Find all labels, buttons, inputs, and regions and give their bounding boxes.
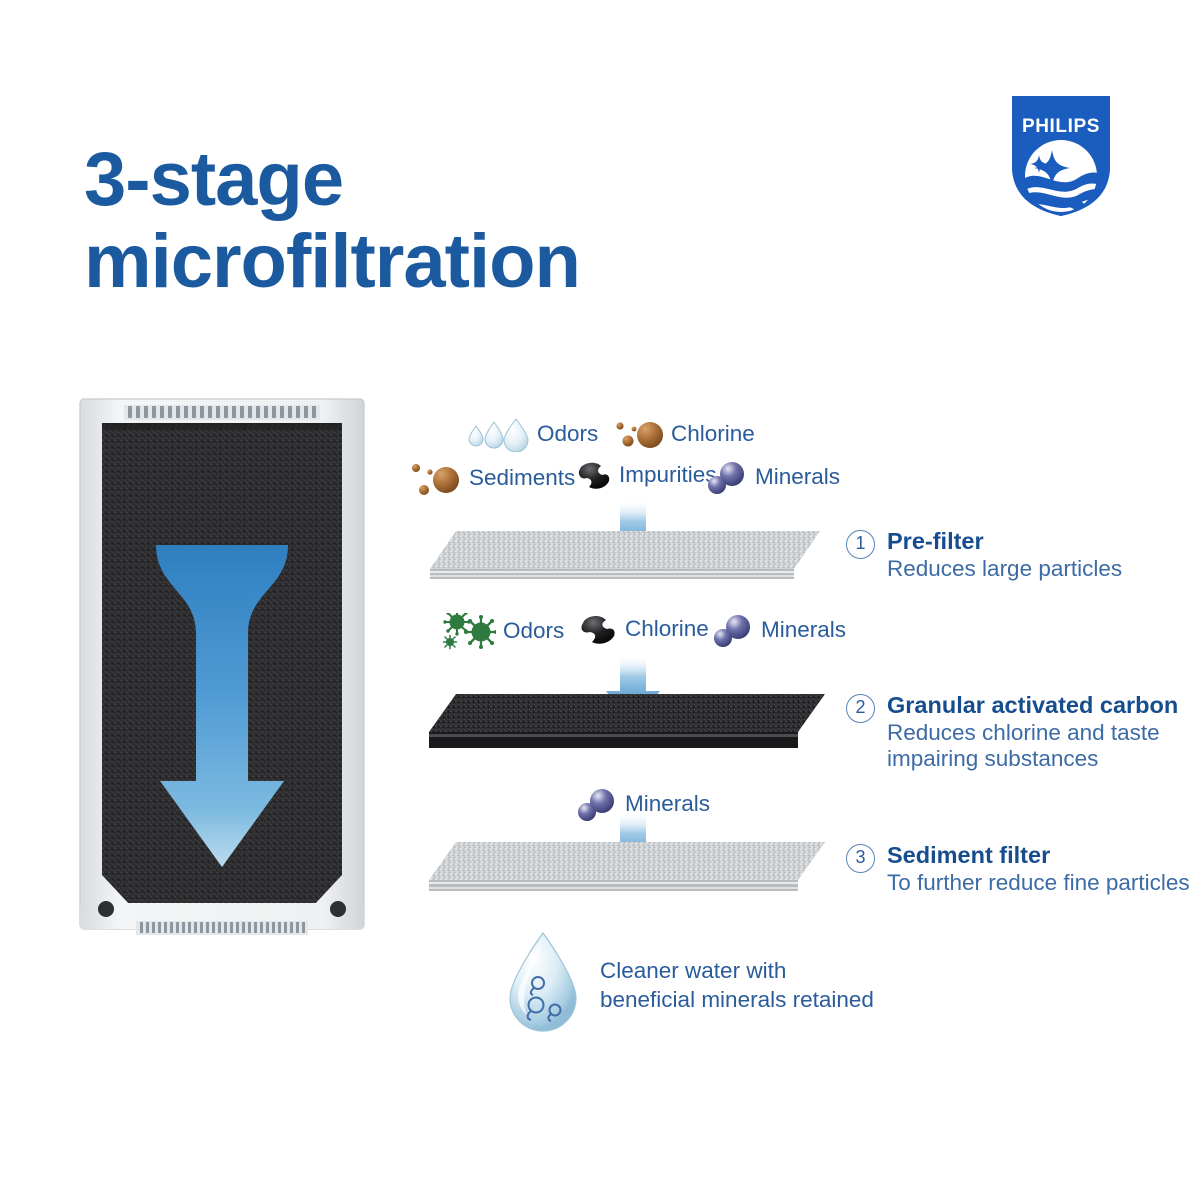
stage-title: Pre-filter — [887, 528, 1122, 555]
particle-label: Minerals — [761, 619, 846, 644]
particle-tag-minerals-2: Minerals — [712, 613, 846, 649]
stage-subtitle: Reduces large particles — [887, 556, 1122, 582]
particle-label: Sediments — [469, 467, 575, 492]
stage-description-1: 1 Pre-filter Reduces large particles — [846, 528, 1122, 582]
cartridge-bottom-vent — [136, 921, 308, 935]
stage-description-2: 2 Granular activated carbon Reduces chlo… — [846, 692, 1178, 772]
green-microbe-icon — [440, 613, 496, 651]
outcome-text: Cleaner water with beneficial minerals r… — [600, 957, 874, 1014]
cartridge-top-vent — [124, 405, 320, 420]
infographic-canvas: 3-stage microfiltration PHILIPS — [0, 0, 1200, 1200]
filter-layer-pre-filter — [420, 525, 830, 591]
particle-tag-chlorine-2: Chlorine — [578, 613, 709, 647]
stage-title: Granular activated carbon — [887, 692, 1178, 719]
particle-tag-odors-2: Odors — [440, 613, 564, 651]
cartridge-clip-left — [98, 901, 114, 917]
particle-label: Odors — [503, 620, 564, 645]
brown-particles-icon — [410, 460, 462, 498]
particle-tag-impurities-1: Impurities — [576, 460, 717, 492]
outcome-line-2: beneficial minerals retained — [600, 986, 874, 1014]
stage-number-badge: 2 — [846, 694, 875, 723]
black-blob-icon — [576, 460, 612, 492]
filter-layer-sediment-filter — [420, 838, 835, 904]
stage-description-3: 3 Sediment filter To further reduce fine… — [846, 842, 1190, 896]
page-title: 3-stage microfiltration — [84, 139, 724, 303]
stage-subtitle-line-2: impairing substances — [887, 746, 1178, 772]
particle-tag-chlorine-1: Chlorine — [612, 418, 755, 452]
particle-label: Chlorine — [671, 423, 755, 448]
water-droplets-icon — [466, 418, 530, 452]
outcome-block: Cleaner water with beneficial minerals r… — [500, 930, 874, 1041]
philips-logo: PHILIPS — [1008, 92, 1114, 220]
stage-subtitle: To further reduce fine particles — [887, 870, 1190, 896]
particle-label: Impurities — [619, 464, 717, 489]
stage-number-badge: 3 — [846, 844, 875, 873]
particle-tag-minerals-1: Minerals — [706, 460, 840, 496]
water-droplet-with-minerals-icon — [500, 930, 586, 1041]
particle-label: Odors — [537, 423, 598, 448]
page-title-line-1: 3-stage — [84, 137, 343, 222]
particle-label: Chlorine — [625, 618, 709, 643]
black-blob-icon — [578, 613, 618, 647]
water-filter-cartridge — [78, 397, 366, 953]
outcome-line-1: Cleaner water with — [600, 957, 874, 985]
brown-particles-icon — [612, 418, 664, 452]
page-title-line-2: microfiltration — [84, 221, 724, 303]
stage-number-badge: 1 — [846, 530, 875, 559]
stage-subtitle-line-1: Reduces chlorine and taste — [887, 720, 1178, 746]
philips-wordmark: PHILIPS — [1022, 116, 1100, 137]
filter-layer-activated-carbon — [420, 690, 835, 756]
mineral-spheres-icon — [706, 460, 748, 496]
stage-title: Sediment filter — [887, 842, 1190, 869]
mineral-spheres-icon — [712, 613, 754, 649]
particle-tag-sediments-1: Sediments — [410, 460, 575, 498]
particle-tag-odors-1: Odors — [466, 418, 598, 452]
particle-label: Minerals — [755, 466, 840, 491]
cartridge-clip-right — [330, 901, 346, 917]
